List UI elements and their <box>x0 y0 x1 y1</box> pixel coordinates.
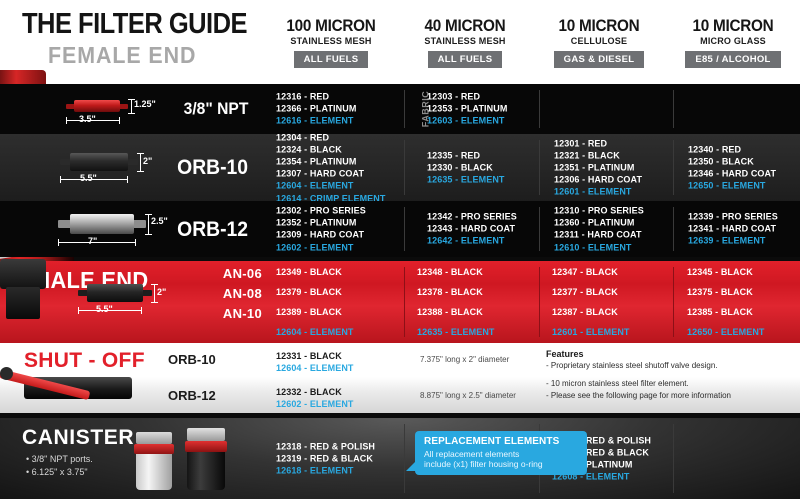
column-media-label: CELLULOSE <box>535 36 662 47</box>
column-micron-label: 10 MICRON <box>673 17 794 34</box>
callout-line-1: All replacement elements <box>424 449 579 459</box>
part-number-element: 12602 - ELEMENT <box>276 241 366 253</box>
part-number: 12388 - BLACK <box>417 307 483 317</box>
section-male-end: MALE END 5.5" 2" AN-06 AN-08 AN-10 <box>0 261 800 343</box>
cell-38npt-10micron-microglass <box>674 84 800 134</box>
part-number-element: 12618 - ELEMENT <box>276 465 375 477</box>
part-number: 12360 - PLATINUM <box>554 217 644 229</box>
part-number-element: 12610 - ELEMENT <box>554 241 644 253</box>
filter-image-orb10 <box>60 152 138 172</box>
part-number: 12348 - BLACK <box>417 267 483 277</box>
column-micron-label: 10 MICRON <box>539 17 660 34</box>
part-number: 12332 - BLACK <box>276 387 342 397</box>
cell-orb10-10micron-microglass: 12340 - RED 12350 - BLACK 12346 - HARD C… <box>674 134 800 201</box>
column-media-label: STAINLESS MESH <box>267 36 394 47</box>
features-heading: Features <box>546 349 584 359</box>
part-number-element: 12650 - ELEMENT <box>688 180 776 192</box>
feature-line-3: - Please see the following page for more… <box>546 391 731 400</box>
part-number: 12319 - RED & BLACK <box>276 452 375 464</box>
cell-orb12-10micron-microglass: 12339 - PRO SERIES 12341 - HARD COAT 126… <box>674 201 800 257</box>
filter-image-38npt <box>66 98 128 114</box>
part-number: 12340 - RED <box>688 143 776 155</box>
cell-orb10-40micron: 12335 - RED 12330 - BLACK 12635 - ELEMEN… <box>405 134 539 201</box>
replacement-elements-callout: REPLACEMENT ELEMENTS All replacement ele… <box>415 431 587 475</box>
filter-guide-page: THE FILTER GUIDE FEMALE END 100 MICRON S… <box>0 0 800 499</box>
column-media-label: MICRO GLASS <box>669 36 796 47</box>
part-number: 12350 - BLACK <box>688 155 776 167</box>
male-size-an-08: AN-08 <box>223 286 262 301</box>
part-number-element: 12603 - ELEMENT <box>427 115 507 127</box>
shut-off-size-orb-10: ORB-10 <box>168 352 216 367</box>
part-number: 12354 - PLATINUM <box>276 155 385 167</box>
dim-diameter-orb10: 2" <box>143 156 152 166</box>
part-number: 12310 - PRO SERIES <box>554 205 644 217</box>
section-shut-off-row-2: ORB-12 12332 - BLACK 12602 - ELEMENT 8.8… <box>0 377 800 413</box>
cell-orb10-100micron: 12304 - RED 12324 - BLACK 12354 - PLATIN… <box>262 134 404 201</box>
column-media-label: STAINLESS MESH <box>401 36 528 47</box>
column-header-40-micron: 40 MICRON STAINLESS MESH ALL FUELS <box>398 17 532 68</box>
row-label-orb-10: ORB-10 <box>177 156 248 180</box>
row-orb-12: 7" 2.5" ORB-12 12302 - PRO SERIES 12352 … <box>0 201 800 257</box>
part-number: 12301 - RED <box>554 137 642 149</box>
part-number: 12366 - PLATINUM <box>276 103 356 115</box>
dim-length-orb12: 7" <box>88 236 97 246</box>
part-number-element: 12616 - ELEMENT <box>276 115 356 127</box>
column-header-10-micron-cellulose: 10 MICRON CELLULOSE GAS & DIESEL <box>532 17 666 68</box>
column-fuel-badge: ALL FUELS <box>294 51 369 68</box>
row-label-38-npt: 3/8" NPT <box>183 99 248 119</box>
part-number: 12379 - BLACK <box>276 287 342 297</box>
cell-orb10-10micron-cellulose: 12301 - RED 12321 - BLACK 12351 - PLATIN… <box>540 134 674 201</box>
part-number: 12324 - BLACK <box>276 143 385 155</box>
part-number: 12330 - BLACK <box>427 161 505 173</box>
cell-38npt-40micron: FABRIC 12303 - RED 12353 - PLATINUM 1260… <box>405 84 539 134</box>
part-number: 12303 - RED <box>427 91 507 103</box>
dim-diameter-orb12: 2.5" <box>151 216 168 226</box>
callout-title: REPLACEMENT ELEMENTS <box>424 436 579 447</box>
column-header-10-micron-microglass: 10 MICRON MICRO GLASS E85 / ALCOHOL <box>666 17 800 68</box>
feature-line-2: - 10 micron stainless steel filter eleme… <box>546 379 689 388</box>
female-end-subtitle: FEMALE END <box>48 42 196 69</box>
canister-title: CANISTER <box>22 426 134 450</box>
shut-off-dims-orb-12: 8.875" long x 2.5" diameter <box>420 391 516 400</box>
part-number: 12351 - PLATINUM <box>554 161 642 173</box>
part-number: 12375 - BLACK <box>687 287 753 297</box>
cell-canister-100micron: 12318 - RED & POLISH 12319 - RED & BLACK… <box>276 440 375 477</box>
part-number: 12306 - HARD COAT <box>554 174 642 186</box>
part-number: 12316 - RED <box>276 91 356 103</box>
part-number-element: 12642 - ELEMENT <box>427 235 517 247</box>
column-fuel-badge: GAS & DIESEL <box>554 51 645 68</box>
male-fitting-image <box>0 259 54 321</box>
shut-off-dims-orb-10: 7.375" long x 2" diameter <box>420 355 509 364</box>
row-orb-10-left: 5.5" 2" ORB-10 <box>0 134 262 201</box>
dim-length-orb10: 5.5" <box>80 173 97 183</box>
part-number: 12378 - BLACK <box>417 287 483 297</box>
row-38-npt: 3.5" 1.25" 3/8" NPT 12316 - RED 12366 - … <box>0 84 800 134</box>
male-size-an-06: AN-06 <box>223 266 262 281</box>
cell-orb12-10micron-cellulose: 12310 - PRO SERIES 12360 - PLATINUM 1231… <box>540 201 674 257</box>
part-number-element: 12601 - ELEMENT <box>554 186 642 198</box>
dim-length-male: 5.5" <box>96 304 113 314</box>
cell-38npt-100micron: 12316 - RED 12366 - PLATINUM 12616 - ELE… <box>262 84 404 134</box>
canister-image-black <box>182 428 232 490</box>
row-orb-12-cells: 12302 - PRO SERIES 12352 - PLATINUM 1230… <box>262 201 800 257</box>
filter-image-male <box>78 283 152 303</box>
part-number-element: 12604 - ELEMENT <box>276 327 354 337</box>
part-number: 12343 - HARD COAT <box>427 223 517 235</box>
filter-image-orb12 <box>58 213 146 235</box>
column-micron-label: 40 MICRON <box>405 17 526 34</box>
part-number-element: 12604 - ELEMENT <box>276 363 354 373</box>
dim-length-38npt: 3.5" <box>79 114 96 124</box>
column-fuel-badge: ALL FUELS <box>428 51 503 68</box>
part-number: 12346 - HARD COAT <box>688 168 776 180</box>
part-number: 12345 - BLACK <box>687 267 753 277</box>
row-38-npt-cells: 12316 - RED 12366 - PLATINUM 12616 - ELE… <box>262 84 800 134</box>
row-orb-12-left: 7" 2.5" ORB-12 <box>0 201 262 257</box>
part-number: 12389 - BLACK <box>276 307 342 317</box>
header-band: THE FILTER GUIDE FEMALE END 100 MICRON S… <box>0 0 800 84</box>
part-number: 12331 - BLACK <box>276 351 342 361</box>
part-number: 12342 - PRO SERIES <box>427 211 517 223</box>
product-grid: 3.5" 1.25" 3/8" NPT 12316 - RED 12366 - … <box>0 84 800 499</box>
column-header-100-micron: 100 MICRON STAINLESS MESH ALL FUELS <box>264 17 398 68</box>
part-number-element: 12650 - ELEMENT <box>687 327 765 337</box>
part-number-element: 12601 - ELEMENT <box>552 327 630 337</box>
part-number: 12311 - HARD COAT <box>554 229 644 241</box>
part-number: 12335 - RED <box>427 149 505 161</box>
cell-orb12-40micron: 12342 - PRO SERIES 12343 - HARD COAT 126… <box>405 201 539 257</box>
part-number-element: 12639 - ELEMENT <box>688 235 778 247</box>
part-number-element: 12602 - ELEMENT <box>276 399 354 409</box>
part-number: 12352 - PLATINUM <box>276 217 366 229</box>
part-number: 12309 - HARD COAT <box>276 229 366 241</box>
part-number-element: 12635 - ELEMENT <box>427 174 505 186</box>
part-number: 12302 - PRO SERIES <box>276 205 366 217</box>
part-number: 12318 - RED & POLISH <box>276 440 375 452</box>
row-orb-10-cells: 12304 - RED 12324 - BLACK 12354 - PLATIN… <box>262 134 800 201</box>
shutoff-valve-image <box>0 365 150 409</box>
cell-orb12-100micron: 12302 - PRO SERIES 12352 - PLATINUM 1230… <box>262 201 404 257</box>
male-end-cells: 12349 - BLACK 12348 - BLACK 12347 - BLAC… <box>262 261 800 343</box>
part-number: 12377 - BLACK <box>552 287 618 297</box>
column-fuel-badge: E85 / ALCOHOL <box>685 51 780 68</box>
row-orb-10: 5.5" 2" ORB-10 12304 - RED 12324 - BLACK… <box>0 134 800 201</box>
canister-image-polish <box>132 432 178 490</box>
part-number: 12307 - HARD COAT <box>276 168 385 180</box>
row-38-npt-left: 3.5" 1.25" 3/8" NPT <box>0 84 262 134</box>
part-number-element: 12604 - ELEMENT <box>276 180 385 192</box>
dim-diameter-male: 2" <box>157 287 166 297</box>
shut-off-size-orb-12: ORB-12 <box>168 388 216 403</box>
canister-bullet-2: • 6.125" x 3.75" <box>26 467 88 477</box>
column-micron-label: 100 MICRON <box>271 17 392 34</box>
part-number: 12347 - BLACK <box>552 267 618 277</box>
cell-38npt-10micron-cellulose <box>540 84 674 134</box>
part-number: 12341 - HARD COAT <box>688 223 778 235</box>
page-title: THE FILTER GUIDE <box>22 8 247 41</box>
part-number: 12304 - RED <box>276 131 385 143</box>
callout-line-2: include (x1) filter housing o-ring <box>424 459 579 469</box>
part-number: 12385 - BLACK <box>687 307 753 317</box>
male-size-an-10: AN-10 <box>223 306 262 321</box>
part-number: 12339 - PRO SERIES <box>688 211 778 223</box>
part-number-element: 12635 - ELEMENT <box>417 327 495 337</box>
section-canister: CANISTER • 3/8" NPT ports. • 6.125" x 3.… <box>0 418 800 499</box>
canister-bullet-1: • 3/8" NPT ports. <box>26 454 93 464</box>
row-label-orb-12: ORB-12 <box>177 218 248 242</box>
part-number: 12387 - BLACK <box>552 307 618 317</box>
dim-diameter-38npt: 1.25" <box>134 99 156 109</box>
part-number: 12353 - PLATINUM <box>427 103 507 115</box>
part-number: 12349 - BLACK <box>276 267 342 277</box>
feature-line-1: - Proprietary stainless steel shutoff va… <box>546 361 718 370</box>
part-number: 12321 - BLACK <box>554 149 642 161</box>
